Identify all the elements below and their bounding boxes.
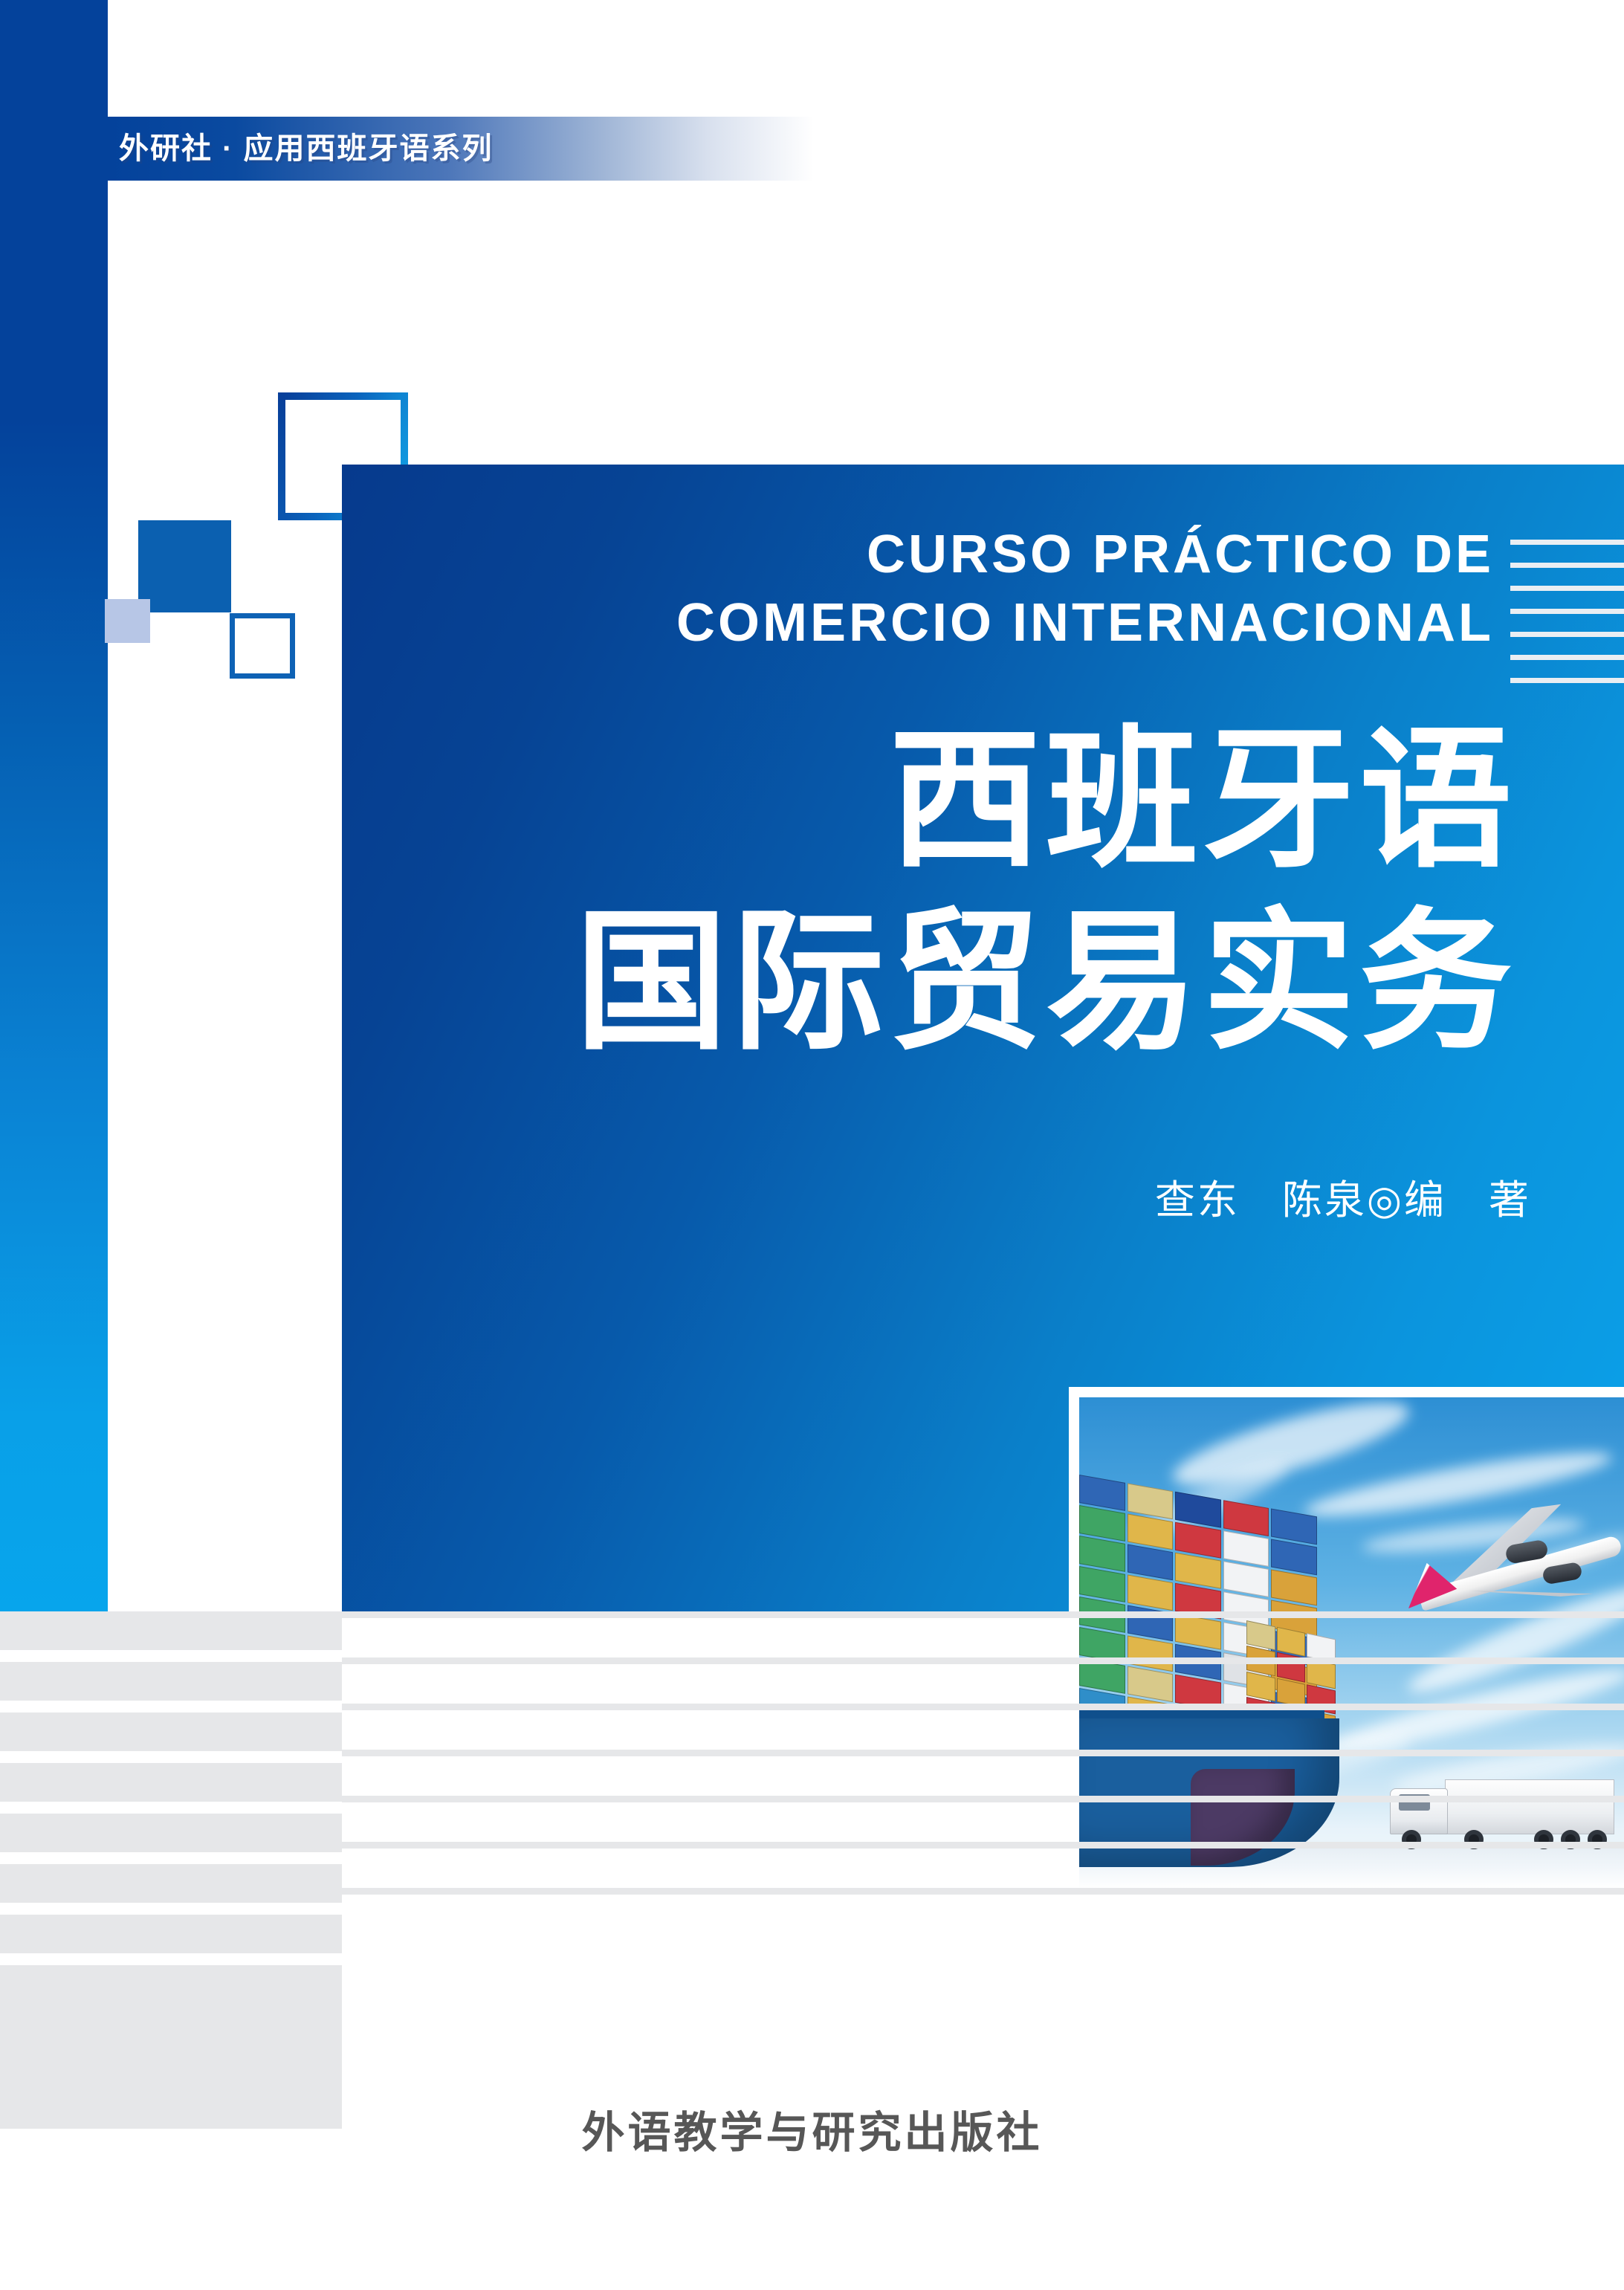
container-box (1223, 1530, 1269, 1567)
decorative-line (1510, 609, 1624, 614)
container-box (1271, 1570, 1317, 1606)
decorative-line (1510, 563, 1624, 568)
stripe-row (0, 1763, 342, 1802)
container-box (1223, 1500, 1269, 1536)
decorative-line (1510, 540, 1624, 545)
container-box (1079, 1566, 1125, 1602)
chinese-title: 西班牙语 国际贸易实务 (476, 710, 1516, 1074)
container-box (1128, 1574, 1174, 1611)
decorative-line (1510, 655, 1624, 660)
spanish-title-line-1: CURSO PRÁCTICO DE (416, 520, 1494, 589)
stripe-row (0, 1814, 342, 1852)
container-box (1271, 1539, 1317, 1576)
container-box (1079, 1505, 1125, 1542)
container-box (1128, 1483, 1174, 1519)
stripe-row (342, 1842, 1624, 1849)
stripe-row (0, 1611, 342, 1650)
book-cover: 外研社 · 应用西班牙语系列 CURSO PRÁCTICO DE COMERCI… (0, 0, 1624, 2290)
decorative-line (1510, 678, 1624, 683)
container-box (1079, 1536, 1125, 1572)
decorative-line (1510, 632, 1624, 637)
spanish-title: CURSO PRÁCTICO DE COMERCIO INTERNACIONAL (416, 520, 1494, 657)
stripe-row (0, 1864, 342, 1903)
stripe-row (342, 1750, 1624, 1756)
spanish-title-line-2: COMERCIO INTERNACIONAL (416, 589, 1494, 657)
container-box (1128, 1513, 1174, 1550)
decorative-line-group (1510, 540, 1624, 701)
bottom-stripes-left (0, 1611, 342, 2161)
stripe-row (342, 1704, 1624, 1710)
left-accent-bar (0, 0, 108, 1611)
solid-square-medium-icon (138, 520, 231, 612)
series-banner-label: 外研社 · 应用西班牙语系列 (119, 125, 494, 172)
decorative-line (1510, 586, 1624, 591)
container-box (1128, 1544, 1174, 1580)
stripe-row (342, 1888, 1624, 1895)
stripe-row (0, 1712, 342, 1751)
stripe-row (0, 1662, 342, 1701)
stripe-row (0, 1915, 342, 1953)
outline-square-small-icon (230, 613, 295, 679)
container-box (1223, 1561, 1269, 1597)
author-credit: 查东 陈泉◎编 著 (892, 1167, 1531, 1226)
stripe-row (342, 1611, 1624, 1618)
stripe-row (342, 1796, 1624, 1802)
solid-square-light-icon (105, 599, 150, 643)
chinese-title-line-1: 西班牙语 (476, 710, 1516, 892)
publisher-name: 外语教学与研究出版社 (0, 2097, 1624, 2160)
chinese-title-line-2: 国际贸易实务 (476, 892, 1516, 1074)
container-box (1079, 1475, 1125, 1511)
stripe-row (342, 1657, 1624, 1664)
bottom-stripes-right (342, 1611, 1624, 2161)
container-box (1175, 1522, 1221, 1559)
container-box (1175, 1553, 1221, 1589)
